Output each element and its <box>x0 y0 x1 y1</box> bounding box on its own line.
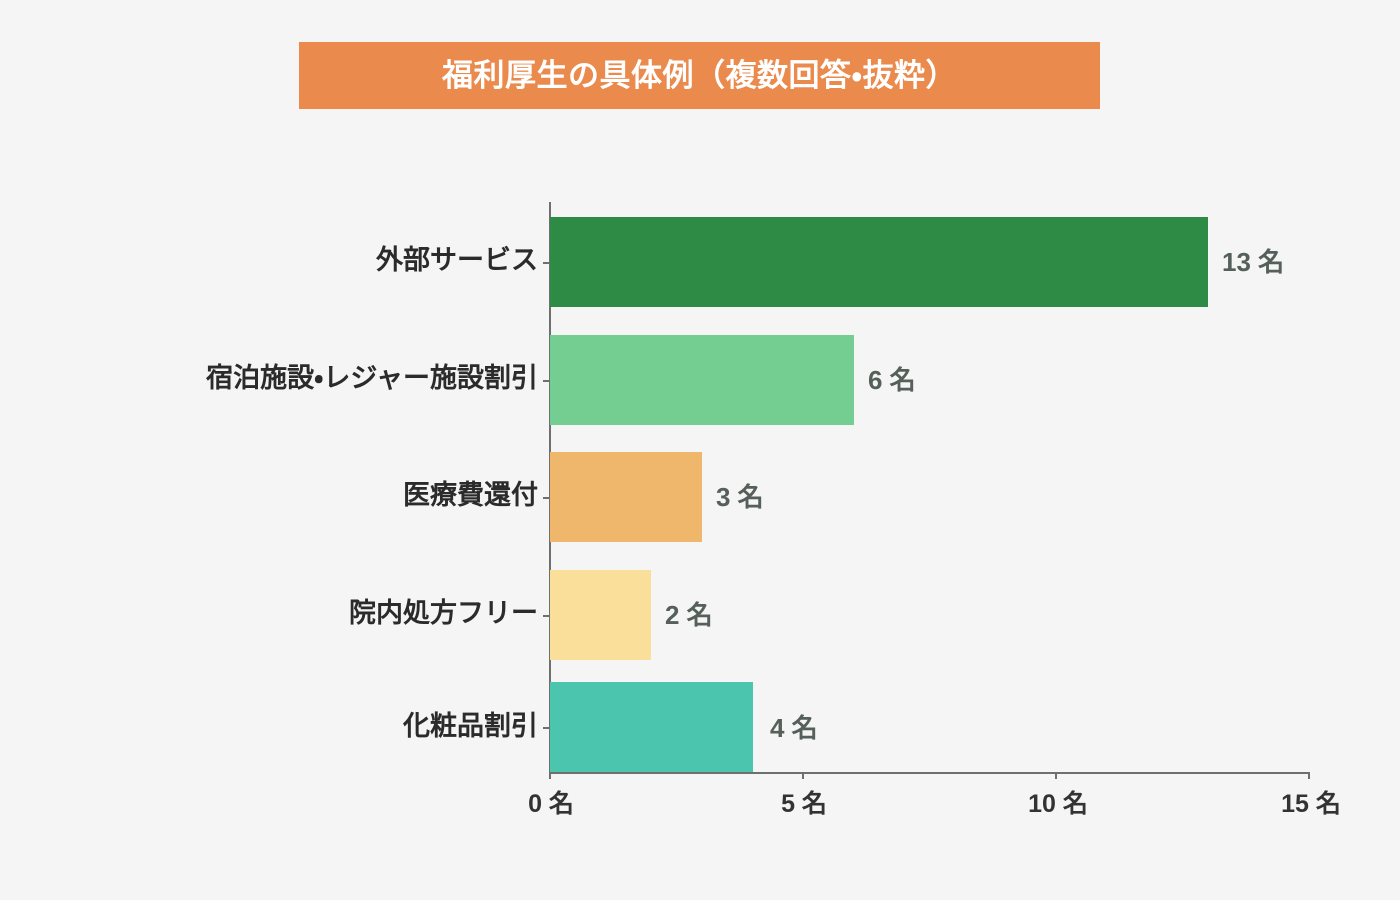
value-label: 6 名 <box>868 367 916 393</box>
value-label: 3 名 <box>716 484 764 510</box>
y-axis-tick-4 <box>543 727 550 729</box>
bar-segment <box>550 217 1208 307</box>
x-axis-tick-0 <box>549 772 551 779</box>
x-axis-tick-10 <box>1055 772 1057 779</box>
bar-chart: 福利厚生の具体例（複数回答・抜粋） 0 名 5 名 10 名 15 名 外部サー… <box>0 0 1400 900</box>
y-axis-tick-1 <box>543 380 550 382</box>
y-axis-tick-3 <box>543 615 550 617</box>
x-axis-label-0: 0 名 <box>528 792 574 817</box>
category-label: 外部サービス <box>376 247 538 274</box>
x-axis-label-15: 15 名 <box>1281 792 1341 817</box>
y-axis-tick-0 <box>543 262 550 264</box>
x-axis-tick-15 <box>1308 772 1310 779</box>
category-label: 宿泊施設・レジャー施設割引 <box>206 365 538 392</box>
bar-segment <box>550 335 854 425</box>
bar-segment <box>550 682 753 772</box>
x-axis-tick-5 <box>802 772 804 779</box>
value-label: 4 名 <box>770 715 818 741</box>
category-label: 院内処方フリー <box>349 600 538 627</box>
chart-title: 福利厚生の具体例（複数回答・抜粋） <box>442 60 957 91</box>
bar-segment <box>550 452 702 542</box>
bar-segment <box>550 570 651 660</box>
value-label: 2 名 <box>665 602 713 628</box>
x-axis-label-5: 5 名 <box>781 792 827 817</box>
category-label: 化粧品割引 <box>403 713 538 740</box>
chart-title-banner: 福利厚生の具体例（複数回答・抜粋） <box>299 42 1100 109</box>
x-axis-line <box>549 772 1310 774</box>
value-label: 13 名 <box>1222 249 1284 275</box>
category-label: 医療費還付 <box>403 482 538 509</box>
x-axis-label-10: 10 名 <box>1028 792 1088 817</box>
y-axis-tick-2 <box>543 497 550 499</box>
